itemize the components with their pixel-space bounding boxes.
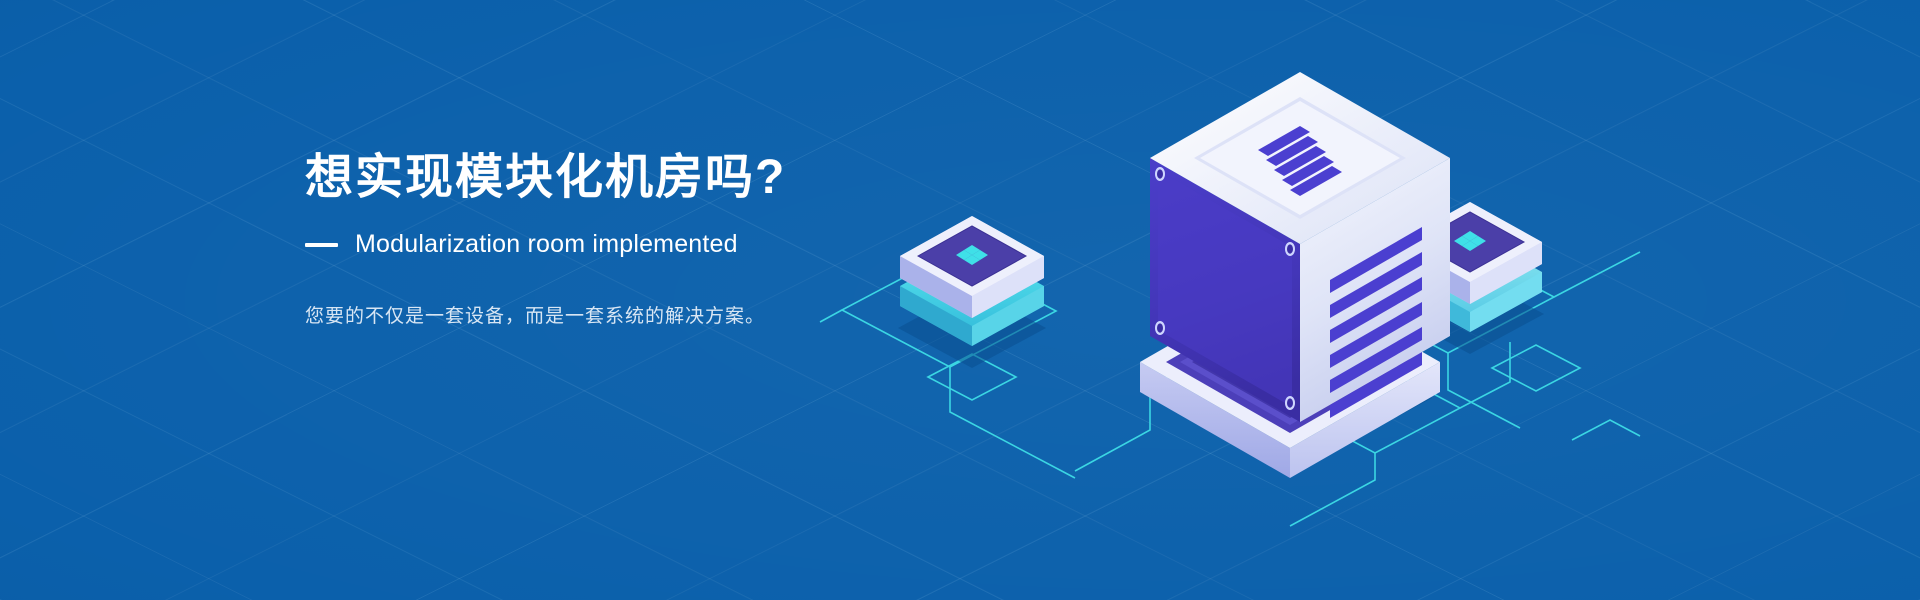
- hero-banner: 想实现模块化机房吗? Modularization room implement…: [0, 0, 1920, 600]
- accent-rule: [305, 243, 338, 247]
- banner-subtitle: Modularization room implemented: [355, 230, 738, 259]
- server-tower: [1140, 72, 1450, 478]
- isometric-server-illustration: [820, 60, 1640, 530]
